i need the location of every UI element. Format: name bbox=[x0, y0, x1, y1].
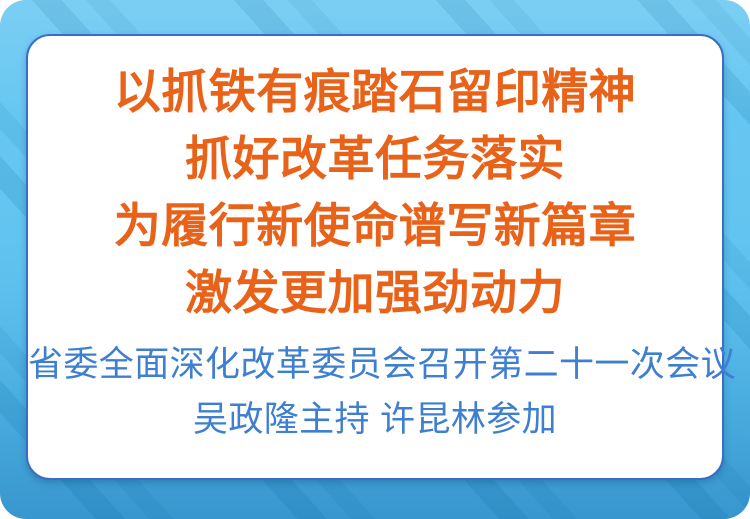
headline-line-3: 为履行新使命谱写新篇章 bbox=[28, 192, 722, 259]
headline-line-4: 激发更加强劲动力 bbox=[28, 259, 722, 326]
subtitle-line-1: 省委全面深化改革委员会召开第二十一次会议 bbox=[28, 337, 722, 392]
headline-block: 以抓铁有痕踏石留印精神 抓好改革任务落实 为履行新使命谱写新篇章 激发更加强劲动… bbox=[28, 58, 722, 326]
subtitle-block: 省委全面深化改革委员会召开第二十一次会议 吴政隆主持 许昆林参加 bbox=[28, 337, 722, 447]
headline-line-1: 以抓铁有痕踏石留印精神 bbox=[28, 58, 722, 125]
headline-line-2: 抓好改革任务落实 bbox=[28, 125, 722, 192]
subtitle-line-2: 吴政隆主持 许昆林参加 bbox=[28, 392, 722, 447]
content-card: 以抓铁有痕踏石留印精神 抓好改革任务落实 为履行新使命谱写新篇章 激发更加强劲动… bbox=[26, 34, 724, 480]
poster-root: 以抓铁有痕踏石留印精神 抓好改革任务落实 为履行新使命谱写新篇章 激发更加强劲动… bbox=[0, 0, 750, 519]
